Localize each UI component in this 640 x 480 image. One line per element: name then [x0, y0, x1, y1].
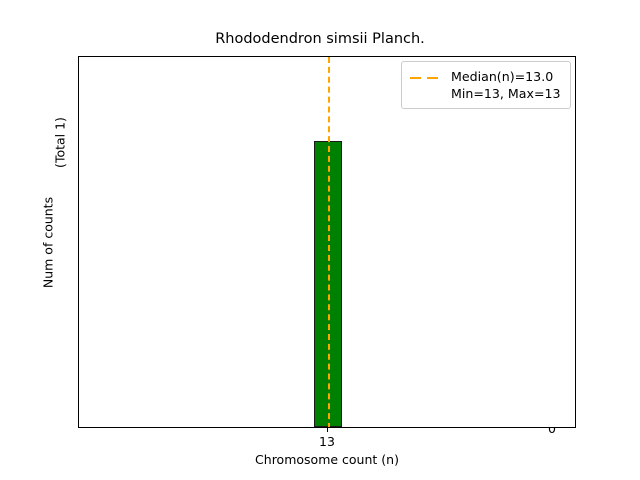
legend-label-minmax: Min=13, Max=13	[451, 85, 561, 102]
legend-text-block: Median(n)=13.0 Min=13, Max=13	[451, 68, 561, 102]
x-tick-label-13: 13	[319, 434, 335, 449]
median-line	[328, 57, 330, 427]
plot-inner	[79, 57, 575, 427]
legend[interactable]: Median(n)=13.0 Min=13, Max=13	[401, 61, 571, 109]
matplotlib-figure: Rhododendron simsii Planch. 1 0 Num of c…	[0, 0, 640, 480]
x-tick-mark	[327, 428, 328, 432]
legend-median-line-icon	[410, 70, 444, 86]
chart-title: Rhododendron simsii Planch.	[0, 31, 640, 47]
y-axis-label-total: (Total 1)	[53, 58, 68, 228]
plot-axes	[78, 56, 576, 428]
x-axis-label: Chromosome count (n)	[78, 452, 576, 467]
legend-label-median: Median(n)=13.0	[451, 68, 553, 85]
